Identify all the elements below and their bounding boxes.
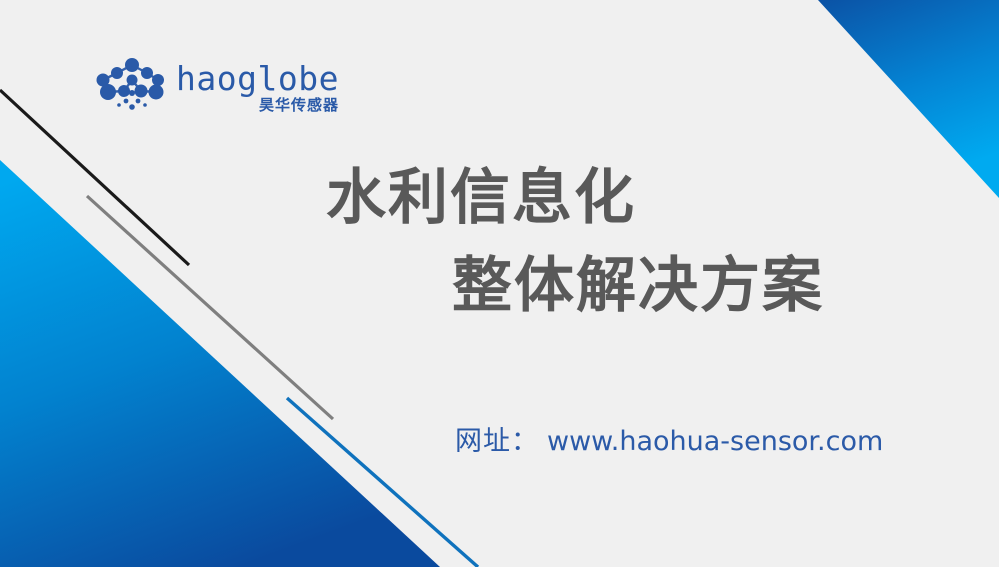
logo-wordmark: haoglobe [176,62,339,96]
company-logo: haoglobe 昊华传感器 [96,58,339,116]
presentation-title-slide: haoglobe 昊华传感器 水利信息化 整体解决方案 网址： www.haoh… [0,0,999,567]
haoglobe-network-dots-icon [96,58,168,116]
website-line: 网址： www.haohua-sensor.com [455,419,883,458]
logo-text-block: haoglobe 昊华传感器 [176,58,339,114]
title-line-1: 水利信息化 [300,160,920,236]
website-url[interactable]: www.haohua-sensor.com [547,426,883,457]
slide-title: 水利信息化 整体解决方案 [300,160,920,324]
title-line-2: 整体解决方案 [300,248,920,324]
website-label: 网址： [455,419,539,458]
logo-subtitle: 昊华传感器 [259,97,339,114]
